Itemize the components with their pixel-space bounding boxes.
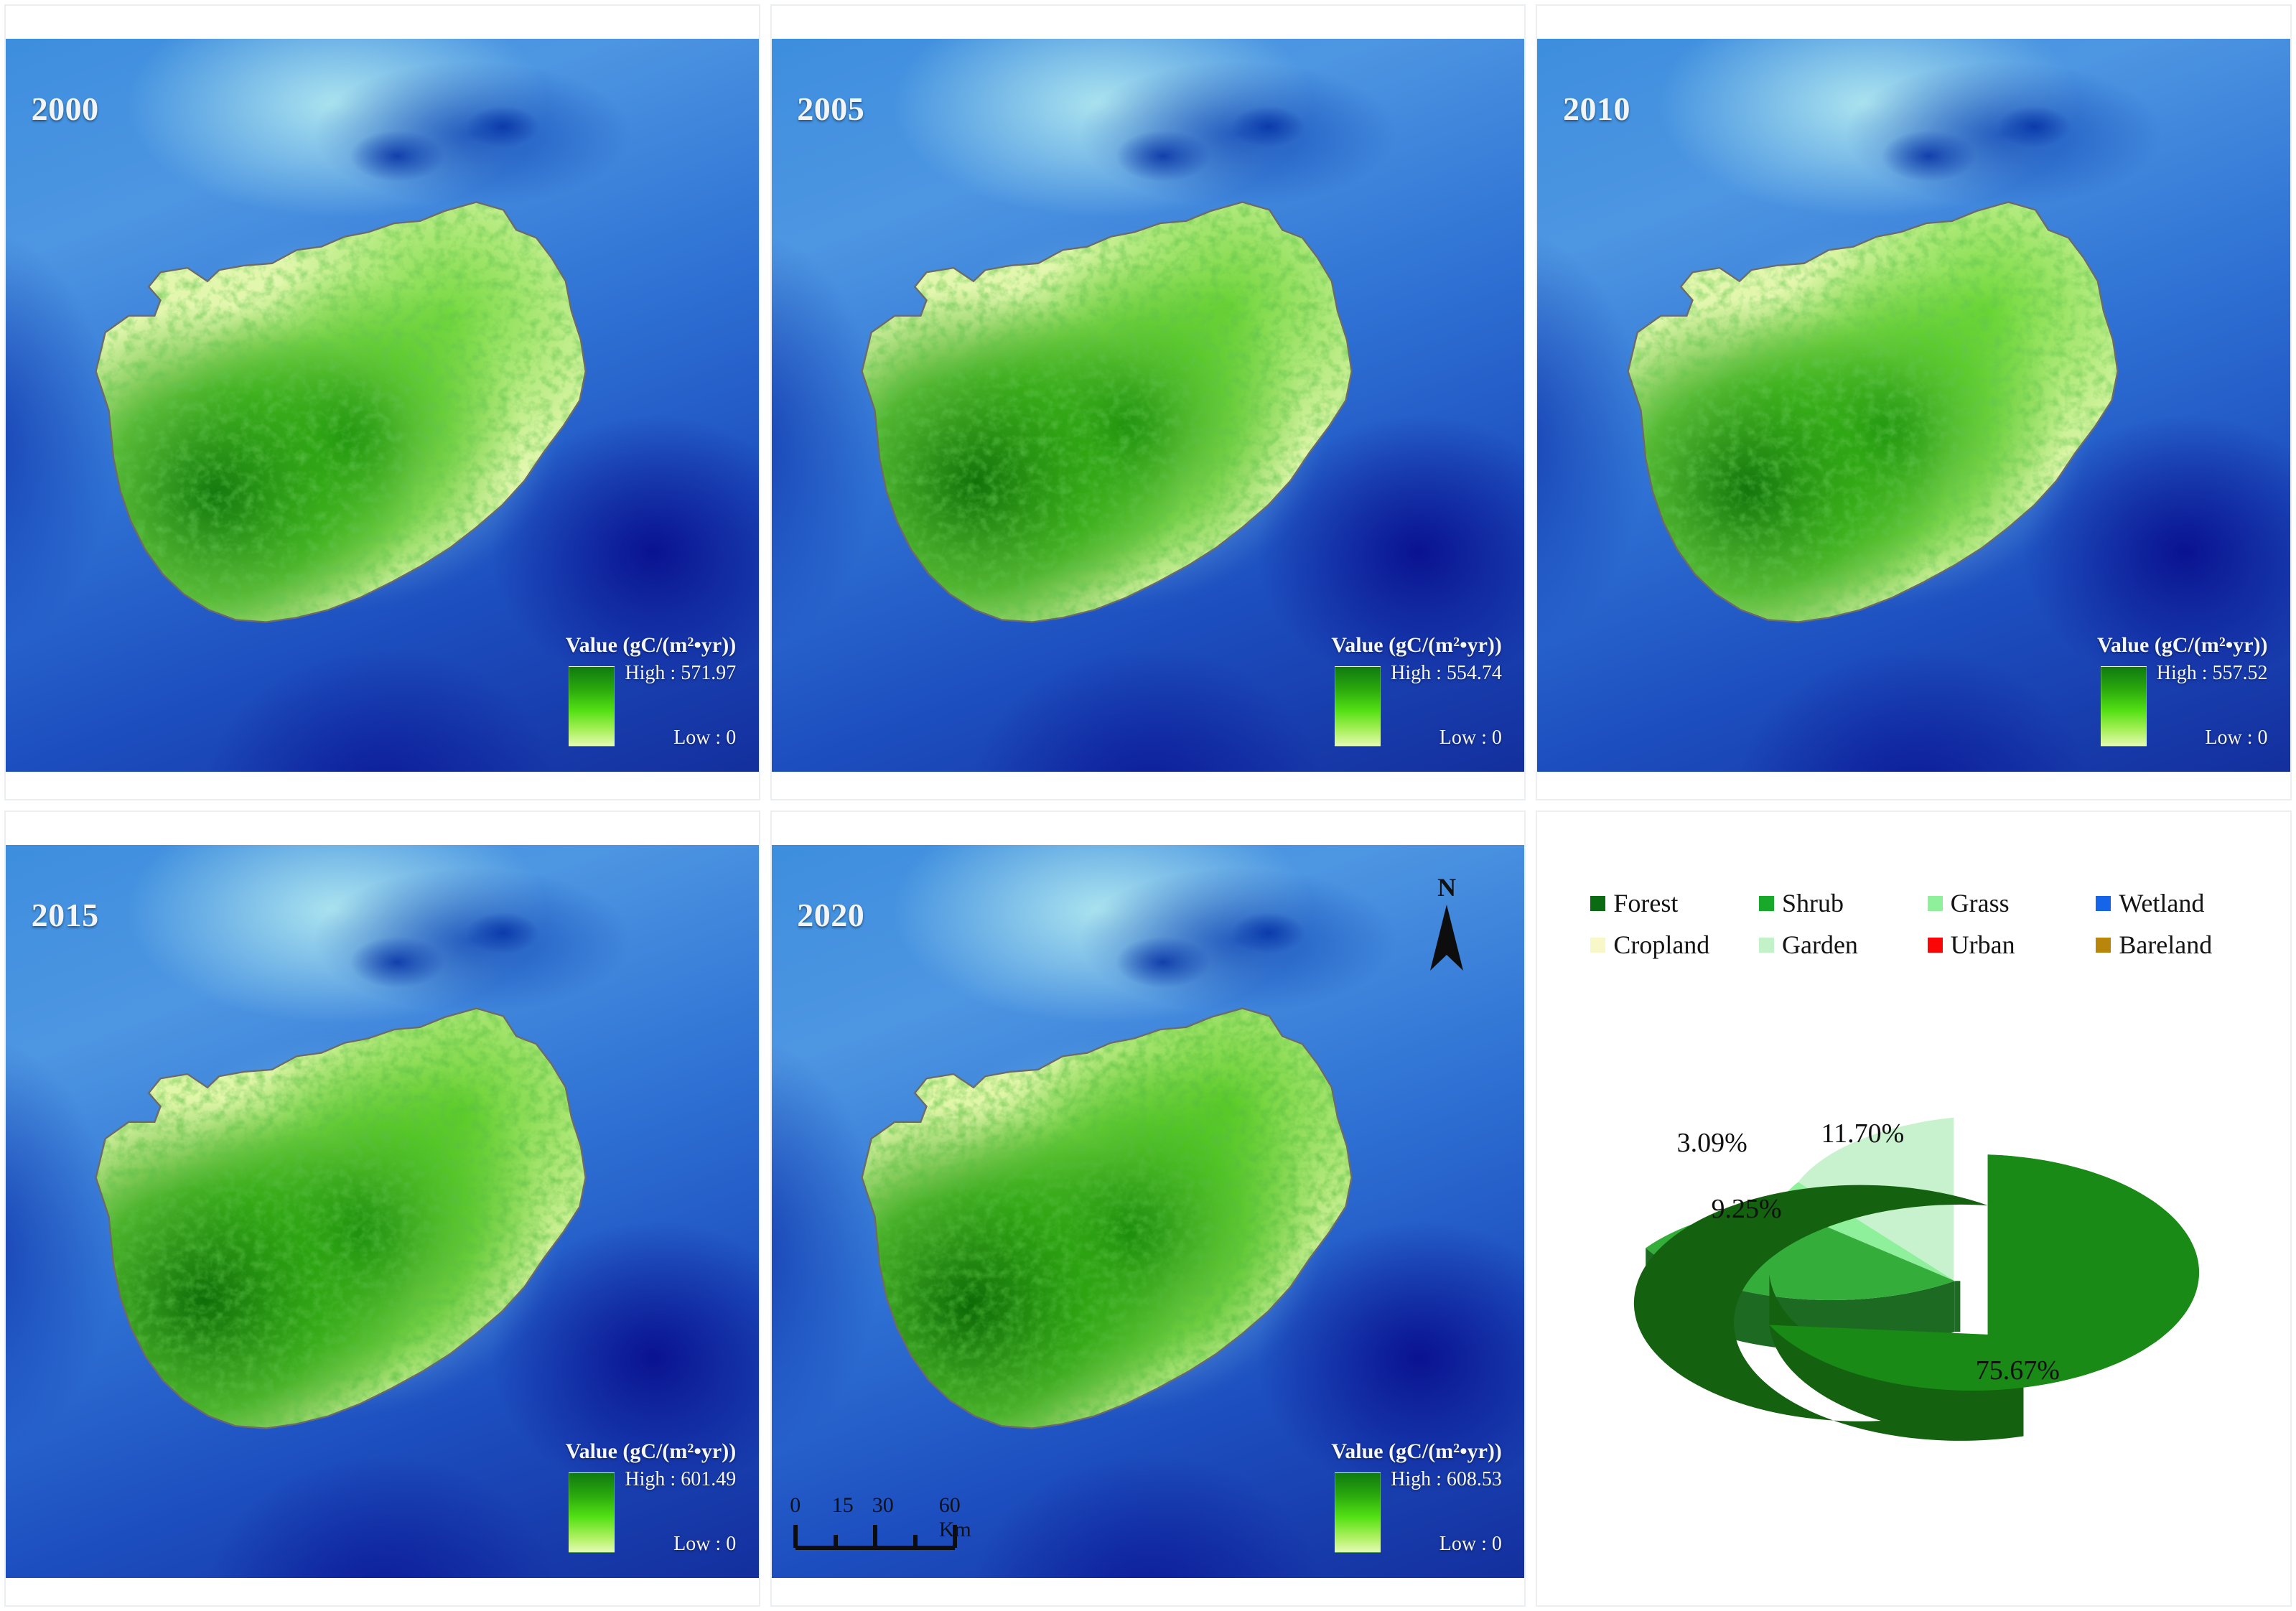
legend-label-grass: Grass: [1951, 888, 2010, 918]
scale-tick-15: 15: [832, 1493, 854, 1518]
figure-root: 2000 Value (gC/(m²•yr)) High : 571.97 Lo…: [0, 0, 2296, 1611]
scale-tick-30: 30: [872, 1493, 894, 1518]
legend-item-forest: Forest: [1590, 888, 1752, 918]
hainan-island-npp-raster: [39, 955, 627, 1512]
map-panel-2010: 2010 Value (gC/(m²•yr)) High : 557.52 Lo…: [1536, 4, 2292, 800]
legend-and-pie-panel: Forest Shrub Grass Wetland Cropland Gard…: [1536, 811, 2292, 1607]
legend-item-garden: Garden: [1759, 930, 1921, 960]
year-label-2005: 2005: [797, 90, 864, 128]
pie-label-grass: 3.09%: [1677, 1127, 1747, 1159]
map-panel-2005: 2005 Value (gC/(m²•yr)) High : 554.74 Lo…: [770, 4, 1526, 800]
year-label-2000: 2000: [32, 90, 99, 128]
hainan-island-npp-raster: [1572, 149, 2159, 706]
legend-label-garden: Garden: [1782, 930, 1858, 960]
map-panel-2020: 2020 N 0 15 30 60 Km: [770, 811, 1526, 1607]
legend-label-cropland: Cropland: [1613, 930, 1709, 960]
land-cover-legend: Forest Shrub Grass Wetland Cropland Gard…: [1590, 888, 2257, 960]
legend-item-wetland: Wetland: [2096, 888, 2257, 918]
north-arrow: N: [1418, 874, 1475, 972]
map-canvas-2000: 2000 Value (gC/(m²•yr)) High : 571.97 Lo…: [6, 39, 759, 772]
garden-swatch-icon: [1759, 938, 1774, 953]
year-label-2020: 2020: [797, 896, 864, 934]
grass-swatch-icon: [1928, 896, 1943, 911]
legend-label-bareland: Bareland: [2119, 930, 2212, 960]
north-arrow-label: N: [1418, 874, 1475, 900]
map-panel-2000: 2000 Value (gC/(m²•yr)) High : 571.97 Lo…: [4, 4, 760, 800]
legend-label-urban: Urban: [1951, 930, 2015, 960]
urban-swatch-icon: [1928, 938, 1943, 953]
legend-label-wetland: Wetland: [2119, 888, 2204, 918]
legend-item-shrub: Shrub: [1759, 888, 1921, 918]
legend-label-forest: Forest: [1613, 888, 1678, 918]
pie-label-garden: 11.70%: [1821, 1118, 1905, 1149]
hainan-island-npp-raster: [806, 955, 1393, 1512]
shrub-swatch-icon: [1759, 896, 1774, 911]
legend-item-bareland: Bareland: [2096, 930, 2257, 960]
scale-tick-0: 0: [790, 1493, 801, 1518]
hainan-island-npp-raster: [39, 149, 627, 706]
map-canvas-2020: 2020 N 0 15 30 60 Km: [772, 845, 1525, 1578]
map-canvas-2010: 2010 Value (gC/(m²•yr)) High : 557.52 Lo…: [1537, 39, 2290, 772]
land-cover-pie-chart: 3.09% 11.70% 9.25% 75.67%: [1570, 977, 2257, 1577]
map-canvas-2015: 2015 Value (gC/(m²•yr)) High : 601.49 Lo…: [6, 845, 759, 1578]
scale-bar-labels: 0 15 30 60 Km: [788, 1493, 1025, 1519]
year-label-2010: 2010: [1563, 90, 1630, 128]
hainan-island-npp-raster: [806, 149, 1393, 706]
cropland-swatch-icon: [1590, 938, 1605, 953]
pie-chart-svg: [1570, 977, 2257, 1577]
scale-tick-60-km: 60 Km: [939, 1493, 997, 1542]
legend-label-shrub: Shrub: [1782, 888, 1844, 918]
legend-item-urban: Urban: [1928, 930, 2089, 960]
legend-item-grass: Grass: [1928, 888, 2089, 918]
map-panel-2015: 2015 Value (gC/(m²•yr)) High : 601.49 Lo…: [4, 811, 760, 1607]
pie-label-forest: 75.67%: [1976, 1355, 2060, 1386]
legend-item-cropland: Cropland: [1590, 930, 1752, 960]
scale-bar: 0 15 30 60 Km: [788, 1493, 1025, 1552]
bareland-swatch-icon: [2096, 938, 2111, 953]
forest-swatch-icon: [1590, 896, 1605, 911]
map-canvas-2005: 2005 Value (gC/(m²•yr)) High : 554.74 Lo…: [772, 39, 1525, 772]
year-label-2015: 2015: [32, 896, 99, 934]
pie-label-shrub: 9.25%: [1711, 1193, 1781, 1225]
wetland-swatch-icon: [2096, 896, 2111, 911]
north-arrow-icon: [1426, 903, 1467, 972]
